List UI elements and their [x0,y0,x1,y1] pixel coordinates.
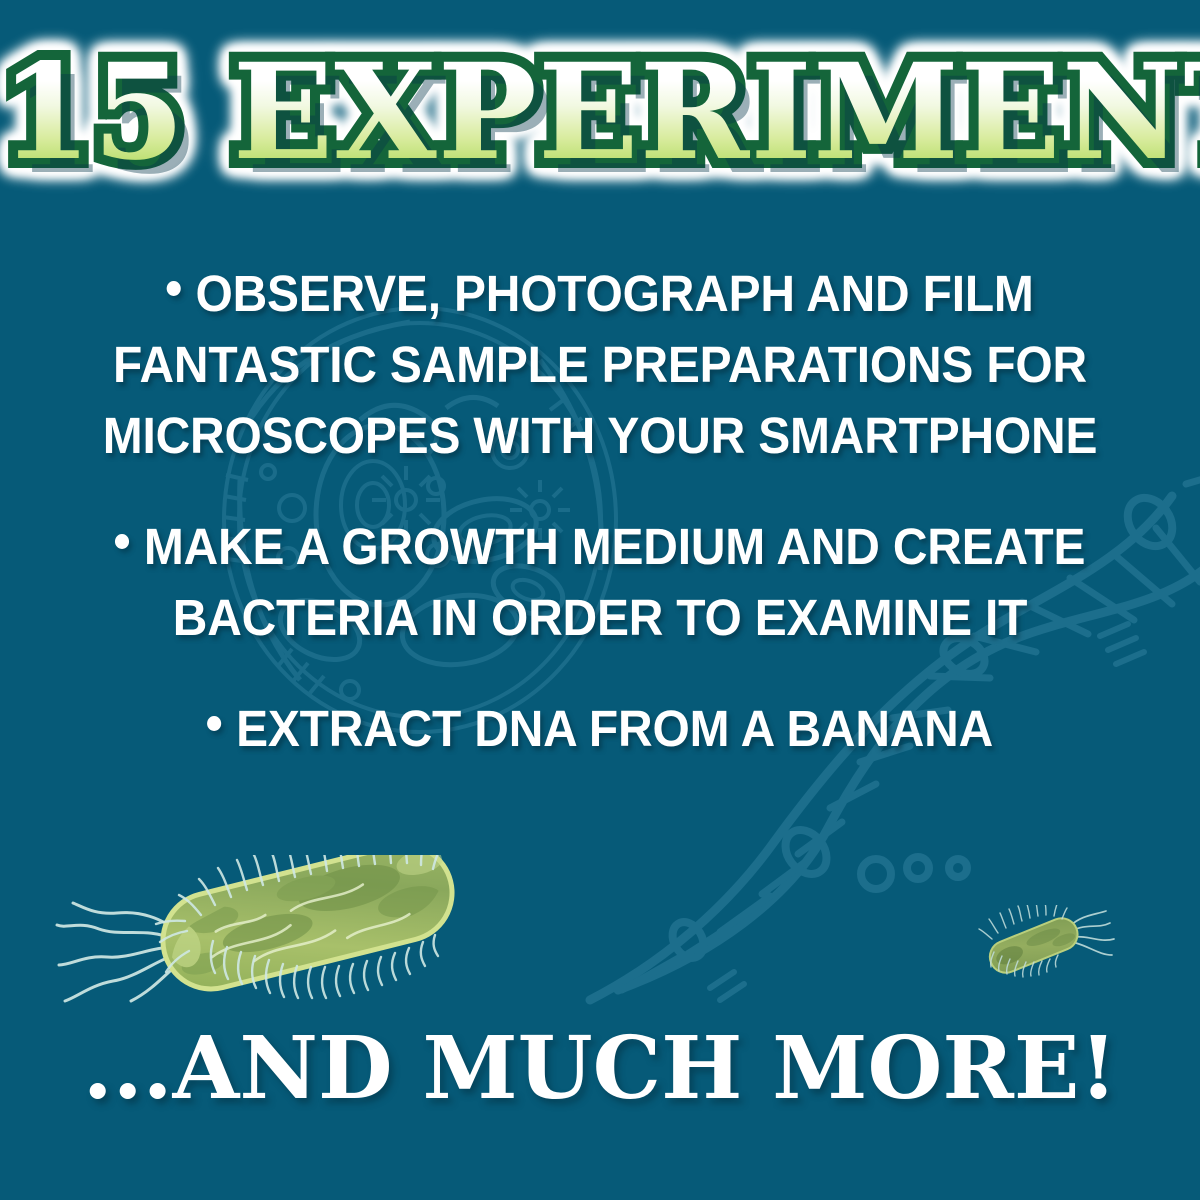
bullet-line-text: OBSERVE, PHOTOGRAPH AND FILM [195,265,1033,322]
list-item: EXTRACT DNA FROM A BANANA [60,693,1140,764]
bullet-dot-icon [207,716,221,731]
list-item: OBSERVE, PHOTOGRAPH AND FILM FANTASTIC S… [60,258,1140,471]
promo-poster: 15 EXPERIMENTS 15 EXPERIMENTS OBSERVE, P… [0,0,1200,1200]
bacillus-bacterium-small-illustration [968,905,1118,985]
footer-area: ...AND MUCH MORE! [0,1018,1200,1119]
list-spacer [0,471,1200,511]
bullet-line: EXTRACT DNA FROM A BANANA [92,693,1107,764]
bacillus-bacterium-large-illustration [55,855,475,1030]
list-item: MAKE A GROWTH MEDIUM AND CREATE BACTERIA… [60,511,1140,653]
list-spacer [0,653,1200,693]
bullet-line-text: MAKE A GROWTH MEDIUM AND CREATE [144,518,1085,575]
title-area: 15 EXPERIMENTS 15 EXPERIMENTS [0,46,1200,181]
bullet-line: MICROSCOPES WITH YOUR SMARTPHONE [92,400,1107,471]
footer-tagline: ...AND MUCH MORE! [0,1018,1200,1119]
bullet-line: OBSERVE, PHOTOGRAPH AND FILM [92,258,1107,329]
bullet-line: MAKE A GROWTH MEDIUM AND CREATE [92,511,1107,582]
feature-list: OBSERVE, PHOTOGRAPH AND FILM FANTASTIC S… [0,258,1200,764]
page-title-fill: 15 EXPERIMENTS [0,46,1200,181]
bullet-dot-icon [166,281,180,296]
bullet-line-text: EXTRACT DNA FROM A BANANA [236,700,993,757]
bullet-line: BACTERIA IN ORDER TO EXAMINE IT [92,582,1107,653]
bullet-dot-icon [115,534,129,549]
bullet-line: FANTASTIC SAMPLE PREPARATIONS FOR [92,329,1107,400]
